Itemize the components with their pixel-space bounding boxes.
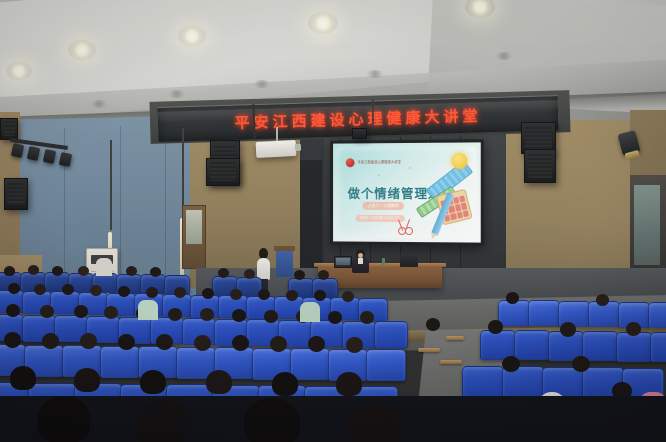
seat[interactable]: [498, 300, 530, 326]
side-door-left[interactable]: [182, 205, 206, 269]
audience-head-closest: [348, 404, 400, 442]
audience-head: [156, 334, 173, 350]
hanging-cable: [110, 140, 112, 230]
audience-head: [232, 335, 249, 351]
audience-head: [118, 334, 135, 350]
banner-support-pole: [372, 99, 374, 129]
seat-armrest: [440, 360, 462, 364]
ceiling-recess: [366, 70, 384, 78]
audience-head: [150, 267, 161, 277]
seat[interactable]: [582, 331, 618, 361]
ceiling-recess: [90, 100, 108, 108]
audience-head: [62, 284, 74, 295]
audience-head-closest: [136, 400, 190, 442]
ceiling-recess: [168, 90, 186, 98]
hanging-cable: [182, 128, 184, 216]
ceiling-downlight: [178, 26, 206, 46]
audience-head-front: [206, 370, 232, 394]
audience-head-front: [336, 372, 362, 396]
audience-head: [286, 290, 298, 301]
seat[interactable]: [514, 330, 550, 360]
scissors-icon: [398, 219, 414, 235]
seat[interactable]: [290, 348, 330, 380]
audience-head: [4, 332, 21, 348]
audience-head-front: [74, 368, 100, 392]
ceiling-downlight: [308, 12, 338, 34]
speaker-left-lower: [4, 178, 28, 210]
audience-head: [42, 333, 59, 349]
seat[interactable]: [650, 332, 666, 362]
ceiling-recess: [495, 52, 513, 60]
projection-screen: 平安江西建设心理健康大讲堂 做个情绪管理达人 主讲人：心理教师 时间：2023年…: [330, 139, 484, 245]
seat-armrest: [446, 336, 464, 340]
audience-head: [78, 266, 89, 276]
audience-head: [80, 333, 97, 349]
audience-head: [52, 266, 63, 276]
speaker-center-left-sub: [206, 158, 240, 186]
presenter-laptop: [334, 256, 352, 268]
slide-org-label: 平安江西建设心理健康大讲堂: [358, 159, 402, 164]
speaker-left-upper: [0, 118, 18, 140]
auditorium-photo: 平安江西建设心理健康大讲堂 平安江西建设心理健康大讲堂 做个情绪管理达人 主讲人…: [0, 0, 666, 442]
audience-head: [488, 320, 503, 334]
ceiling-recess: [253, 80, 271, 88]
audience-head: [4, 266, 15, 276]
presenter-collar: [358, 258, 363, 264]
audience-head: [34, 284, 46, 295]
speaker-right-lower: [524, 149, 556, 183]
audience-head: [174, 287, 186, 298]
audience-head: [40, 305, 54, 318]
audience-head: [202, 288, 214, 299]
audience-person-white: [96, 258, 112, 276]
audience-head: [560, 322, 576, 337]
seat[interactable]: [648, 302, 666, 328]
audience-head: [194, 335, 211, 351]
audience-head: [104, 306, 118, 319]
audience-head: [74, 305, 88, 318]
ceiling-downlight: [6, 62, 32, 80]
ceiling-projector: [256, 140, 297, 158]
audience-head: [360, 311, 374, 324]
audience-head: [506, 292, 519, 304]
audience-head: [258, 289, 270, 300]
audience-head: [90, 285, 102, 296]
sun-icon: [451, 153, 467, 169]
audience-head-closest: [244, 398, 300, 442]
audience-head-front: [272, 372, 298, 396]
foreground-shadow: [0, 396, 666, 442]
audience-head: [146, 287, 158, 298]
audience-head: [8, 283, 20, 294]
audience-head: [200, 308, 214, 321]
podium: [276, 249, 293, 277]
audience-head: [626, 322, 641, 336]
seat[interactable]: [528, 300, 560, 326]
water-bottle: [382, 258, 385, 267]
audience-head: [314, 290, 326, 301]
audience-head: [168, 308, 182, 321]
audience-head: [28, 265, 39, 275]
slide-logo-icon: [346, 158, 355, 167]
audience-head-closest: [38, 396, 90, 442]
seat[interactable]: [100, 346, 140, 378]
audience-head: [230, 289, 242, 300]
audience-head: [126, 266, 137, 276]
audience-head: [232, 309, 246, 322]
audience-head: [328, 311, 342, 324]
audience-head-front: [140, 370, 166, 394]
seat-armrest: [418, 348, 440, 352]
audience-person-mint: [138, 300, 158, 320]
audience-head-front: [10, 366, 36, 390]
audience-head: [342, 291, 354, 302]
ceiling-downlight: [68, 40, 96, 60]
audience-head: [572, 356, 590, 372]
audience-head: [294, 270, 305, 280]
audience-head: [318, 270, 329, 280]
audience-head: [426, 318, 440, 331]
audience-head: [270, 336, 287, 352]
audience-person-mint: [300, 302, 320, 322]
seat[interactable]: [616, 332, 652, 362]
seat[interactable]: [366, 349, 406, 381]
audience-head: [118, 286, 130, 297]
audience-head: [218, 268, 229, 278]
audience-head: [346, 337, 363, 353]
audience-head: [264, 310, 278, 323]
audience-head: [596, 294, 609, 306]
speaker-wall-mini: [352, 128, 367, 139]
audience-head: [308, 336, 325, 352]
seat[interactable]: [374, 321, 408, 348]
confidence-monitor: [400, 254, 418, 267]
audience-head: [6, 304, 20, 317]
audience-head: [502, 356, 520, 372]
audience-head: [244, 269, 255, 279]
